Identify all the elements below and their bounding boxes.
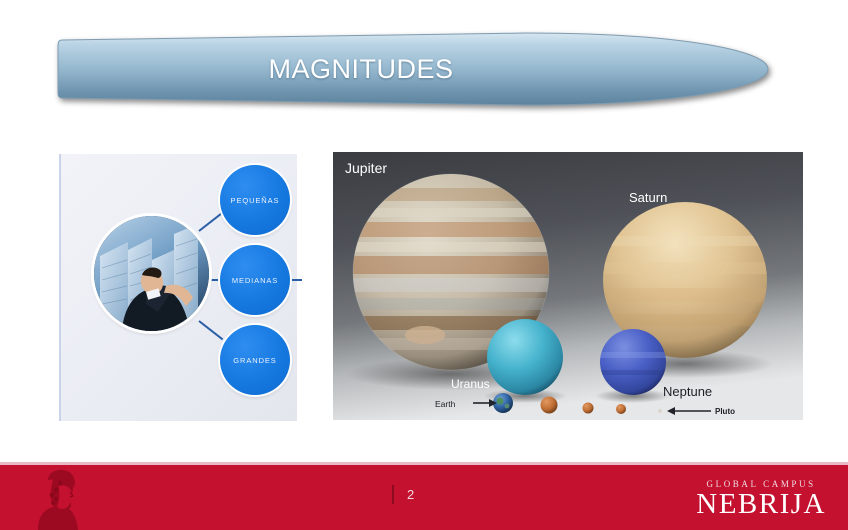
title-banner-shape xyxy=(56,30,771,108)
footer-page-indicator: 2 xyxy=(392,485,414,504)
planet-pluto xyxy=(658,409,662,413)
page-number: 2 xyxy=(407,487,414,502)
planet-mars xyxy=(583,403,594,414)
label-saturn: Saturn xyxy=(629,190,667,205)
magnitude-categories-diagram: PEQUEÑAS MEDIANAS GRANDES xyxy=(59,154,297,421)
planet-mercury xyxy=(616,404,626,414)
label-neptune: Neptune xyxy=(663,384,712,399)
category-node-label: PEQUEÑAS xyxy=(231,196,280,205)
connector-line-mid-right xyxy=(290,279,302,281)
label-earth: Earth xyxy=(435,399,456,409)
slide-footer: 2 GLOBAL CAMPUS NEBRIJA xyxy=(0,462,848,530)
nebrija-portrait-icon xyxy=(26,466,88,530)
planet-size-comparison-image: Jupiter Saturn Uranus Neptune Earth Plut… xyxy=(333,152,803,420)
category-node-label: MEDIANAS xyxy=(232,276,278,285)
slide-title-banner: MAGNITUDES xyxy=(56,30,771,108)
category-node-label: GRANDES xyxy=(233,356,276,365)
connector-line-bottom xyxy=(198,320,223,340)
page-number-divider xyxy=(392,485,394,504)
logo-wordmark: NEBRIJA xyxy=(696,490,826,519)
category-node-grandes[interactable]: GRANDES xyxy=(220,325,290,395)
planet-venus xyxy=(541,397,558,414)
category-node-pequenas[interactable]: PEQUEÑAS xyxy=(220,165,290,235)
connector-line-top xyxy=(198,212,223,232)
label-uranus: Uranus xyxy=(451,377,490,391)
category-node-medianas[interactable]: MEDIANAS xyxy=(220,245,290,315)
businessman-photo xyxy=(94,216,209,331)
planet-uranus xyxy=(487,319,563,395)
label-pluto: Pluto xyxy=(715,407,735,416)
nebrija-logo: GLOBAL CAMPUS NEBRIJA xyxy=(696,479,826,519)
label-jupiter: Jupiter xyxy=(345,160,387,176)
